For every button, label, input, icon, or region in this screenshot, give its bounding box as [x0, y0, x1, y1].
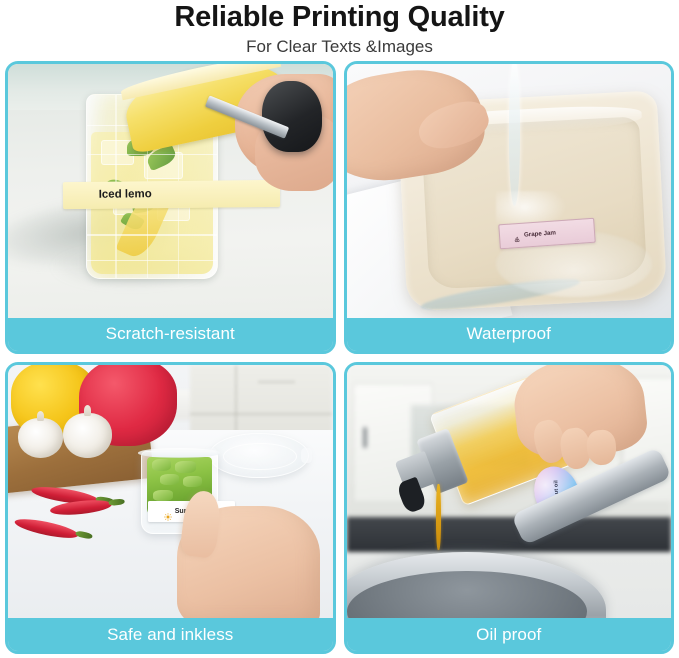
product-label-text: Grape Jam	[524, 229, 556, 238]
jar-lid	[209, 433, 308, 478]
panel-safe-and-inkless: Sun Safe and inkless	[5, 362, 336, 655]
panel-photo-scratch-resistant: Iced lemo	[8, 64, 333, 318]
garlic-bulb	[63, 413, 112, 459]
pouring-oil-stream	[436, 484, 441, 550]
cabinet-handle	[258, 381, 295, 383]
grapes-icon	[513, 231, 522, 240]
sun-icon	[164, 508, 172, 516]
key-fob	[262, 81, 322, 152]
panel-caption-safe-and-inkless: Safe and inkless	[8, 618, 333, 651]
lid-tab	[301, 448, 313, 464]
page-subtitle: For Clear Texts &Images	[0, 34, 679, 57]
page-title: Reliable Printing Quality	[0, 0, 679, 34]
panel-caption-oil-proof: Oil proof	[347, 618, 672, 651]
background-cabinets	[190, 365, 333, 441]
product-label-iced-lemon: Iced lemo	[63, 179, 281, 208]
panel-waterproof: Grape Jam Waterproof	[344, 61, 675, 354]
panel-scratch-resistant: Iced lemo Scratch-resistant	[5, 61, 336, 354]
pepper-chunk	[183, 476, 201, 487]
pepper-chunk	[160, 474, 180, 485]
glass-rib	[87, 260, 217, 262]
product-label-text: Iced lemo	[99, 188, 152, 201]
pepper-chunk	[152, 459, 172, 471]
pepper-chunk	[153, 490, 173, 501]
glass-rib	[87, 234, 217, 236]
pepper-chunk	[175, 461, 196, 473]
panel-photo-safe-and-inkless: Sun	[8, 365, 333, 619]
panel-photo-waterproof: Grape Jam	[347, 64, 672, 318]
panel-caption-waterproof: Waterproof	[347, 318, 672, 351]
page-header: Reliable Printing Quality For Clear Text…	[0, 0, 679, 60]
pan-interior	[347, 571, 587, 618]
feature-panel-grid: Iced lemo Scratch-resistant	[5, 61, 674, 654]
panel-oil-proof: Peanut oil Oil proof	[344, 362, 675, 655]
cabinet-seam	[190, 413, 333, 415]
panel-photo-oil-proof: Peanut oil	[347, 365, 672, 619]
cabinet-handle	[363, 427, 368, 447]
car-key	[196, 79, 326, 170]
dark-counter	[347, 517, 672, 552]
garlic-tip	[84, 405, 92, 416]
panel-caption-scratch-resistant: Scratch-resistant	[8, 318, 333, 351]
garlic-tip	[37, 411, 44, 421]
cabinet-seam	[235, 365, 237, 441]
lid-inner-ring	[223, 443, 297, 471]
garlic-bulb	[18, 418, 63, 459]
